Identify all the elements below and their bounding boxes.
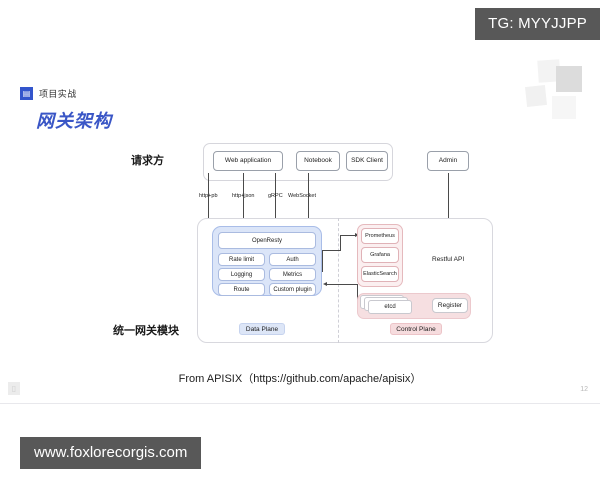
node-grafana[interactable]: Grafana bbox=[361, 247, 399, 263]
node-etcd-stack[interactable]: etcd bbox=[360, 295, 416, 317]
node-auth[interactable]: Auth bbox=[269, 253, 316, 266]
source-caption: From APISIX（https://github.com/apache/ap… bbox=[0, 370, 600, 386]
tag-control-plane: Control Plane bbox=[390, 323, 442, 335]
telegram-watermark: TG: MYYJJPP bbox=[475, 8, 600, 40]
label-restful-api: Restful API bbox=[432, 256, 464, 263]
node-route[interactable]: Route bbox=[218, 283, 265, 296]
arrowhead-to-data-plane bbox=[323, 282, 327, 286]
connector-etcd-horizontal bbox=[327, 284, 357, 285]
node-sdk-client[interactable]: SDK Client bbox=[346, 151, 388, 171]
node-web-application[interactable]: Web application bbox=[213, 151, 283, 171]
decor-square-3 bbox=[525, 85, 547, 107]
connector-monitor-horizontal bbox=[340, 235, 356, 236]
node-register[interactable]: Register bbox=[432, 298, 468, 313]
architecture-diagram: 请求方 统一网关模块 Web application Notebook SDK … bbox=[0, 140, 600, 365]
etcd-label: etcd bbox=[368, 300, 412, 314]
decor-square-4 bbox=[552, 96, 576, 119]
protocol-label-http-json: http+json bbox=[232, 193, 254, 199]
plane-divider bbox=[338, 218, 339, 343]
node-metrics[interactable]: Metrics bbox=[269, 268, 316, 281]
protocol-label-grpc: gRPC bbox=[268, 193, 283, 199]
connector-monitor-riser bbox=[340, 235, 341, 251]
node-elasticsearch[interactable]: ElasticSearch bbox=[361, 266, 399, 282]
protocol-label-http-pb: http+pb bbox=[199, 193, 218, 199]
node-logging[interactable]: Logging bbox=[218, 268, 265, 281]
node-notebook[interactable]: Notebook bbox=[296, 151, 340, 171]
label-requesters: 请求方 bbox=[131, 152, 164, 168]
site-watermark: www.foxlorecorgis.com bbox=[20, 437, 201, 469]
page-title: 网关架构 bbox=[36, 107, 112, 133]
node-openresty[interactable]: OpenResty bbox=[218, 232, 316, 249]
node-prometheus[interactable]: Prometheus bbox=[361, 228, 399, 244]
slide-logo-icon: ▯ bbox=[8, 382, 20, 395]
presentation-icon: ▤ bbox=[20, 87, 33, 100]
decor-square-2 bbox=[556, 66, 582, 92]
node-rate-limit[interactable]: Rate limit bbox=[218, 253, 265, 266]
kicker-label: 项目实战 bbox=[39, 87, 77, 100]
node-admin[interactable]: Admin bbox=[427, 151, 469, 171]
connector-dp-monitor-vertical bbox=[322, 250, 323, 272]
connector-dp-monitor-stub bbox=[322, 250, 340, 251]
node-custom-plugin[interactable]: Custom plugin bbox=[269, 283, 316, 296]
decorative-squares bbox=[522, 60, 592, 122]
slide-canvas: ▤ 项目实战 网关架构 请求方 统一网关模块 Web application N… bbox=[0, 55, 600, 404]
slide-kicker: ▤ 项目实战 bbox=[20, 87, 77, 100]
protocol-label-websocket: WebSocket bbox=[288, 193, 316, 199]
page-number: 12 bbox=[580, 386, 588, 393]
label-gateway-module: 统一网关模块 bbox=[113, 322, 179, 338]
tag-data-plane: Data Plane bbox=[239, 323, 285, 335]
